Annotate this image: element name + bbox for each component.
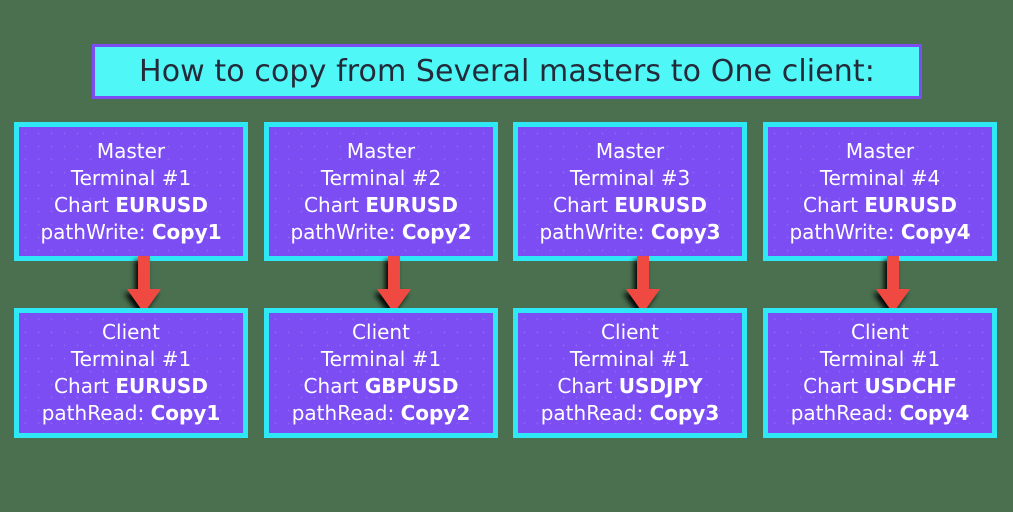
master-path-value-2: Copy2: [402, 220, 472, 244]
master-chart-symbol-3: EURUSD: [614, 193, 707, 217]
down-arrow-icon-2: [364, 256, 424, 316]
client-path-line-3: pathRead: Copy3: [541, 400, 720, 427]
master-chart-label-1: Chart: [54, 193, 109, 217]
master-chart-symbol-1: EURUSD: [115, 193, 208, 217]
client-path-label-2: pathRead:: [292, 401, 394, 425]
client-chart-label-3: Chart: [557, 374, 612, 398]
master-terminal-box-1[interactable]: Master Terminal #1 Chart EURUSD pathWrit…: [14, 122, 248, 261]
flow-column-1: Master Terminal #1 Chart EURUSD pathWrit…: [14, 0, 250, 512]
flow-column-3: Master Terminal #3 Chart EURUSD pathWrit…: [513, 0, 749, 512]
master-chart-label-3: Chart: [553, 193, 608, 217]
master-path-label-2: pathWrite:: [290, 220, 395, 244]
client-terminal-box-1[interactable]: Client Terminal #1 Chart EURUSD pathRead…: [14, 308, 248, 438]
flow-column-4: Master Terminal #4 Chart EURUSD pathWrit…: [763, 0, 999, 512]
client-terminal-box-4[interactable]: Client Terminal #1 Chart USDCHF pathRead…: [763, 308, 997, 438]
down-arrow-icon-3: [613, 256, 673, 316]
master-chart-label-4: Chart: [803, 193, 858, 217]
client-terminal-label-1: Terminal #1: [71, 346, 191, 373]
flow-column-2: Master Terminal #2 Chart EURUSD pathWrit…: [264, 0, 500, 512]
master-terminal-box-2[interactable]: Master Terminal #2 Chart EURUSD pathWrit…: [264, 122, 498, 261]
master-role-label-3: Master: [596, 138, 664, 165]
client-chart-label-1: Chart: [54, 374, 109, 398]
master-role-label-2: Master: [347, 138, 415, 165]
master-path-line-1: pathWrite: Copy1: [40, 219, 221, 246]
master-role-label-1: Master: [97, 138, 165, 165]
client-role-label-4: Client: [851, 319, 909, 346]
client-path-label-1: pathRead:: [42, 401, 144, 425]
master-chart-line-3: Chart EURUSD: [553, 192, 707, 219]
master-terminal-box-3[interactable]: Master Terminal #3 Chart EURUSD pathWrit…: [513, 122, 747, 261]
master-path-line-3: pathWrite: Copy3: [539, 219, 720, 246]
down-arrow-icon-1: [114, 256, 174, 316]
client-path-value-2: Copy2: [401, 401, 471, 425]
client-terminal-label-4: Terminal #1: [820, 346, 940, 373]
master-terminal-label-1: Terminal #1: [71, 165, 191, 192]
master-path-value-3: Copy3: [651, 220, 721, 244]
master-chart-line-2: Chart EURUSD: [304, 192, 458, 219]
master-terminal-box-4[interactable]: Master Terminal #4 Chart EURUSD pathWrit…: [763, 122, 997, 261]
client-path-line-2: pathRead: Copy2: [292, 400, 471, 427]
master-terminal-label-4: Terminal #4: [820, 165, 940, 192]
client-chart-line-4: Chart USDCHF: [803, 373, 957, 400]
client-terminal-box-3[interactable]: Client Terminal #1 Chart USDJPY pathRead…: [513, 308, 747, 438]
client-role-label-3: Client: [601, 319, 659, 346]
master-path-label-4: pathWrite:: [789, 220, 894, 244]
master-terminal-label-3: Terminal #3: [570, 165, 690, 192]
master-path-label-1: pathWrite:: [40, 220, 145, 244]
client-path-value-4: Copy4: [900, 401, 970, 425]
master-chart-line-4: Chart EURUSD: [803, 192, 957, 219]
master-chart-symbol-4: EURUSD: [864, 193, 957, 217]
client-role-label-2: Client: [352, 319, 410, 346]
client-chart-label-4: Chart: [803, 374, 858, 398]
client-terminal-box-2[interactable]: Client Terminal #1 Chart GBPUSD pathRead…: [264, 308, 498, 438]
client-path-line-4: pathRead: Copy4: [791, 400, 970, 427]
master-path-line-2: pathWrite: Copy2: [290, 219, 471, 246]
master-chart-line-1: Chart EURUSD: [54, 192, 208, 219]
client-chart-symbol-1: EURUSD: [115, 374, 208, 398]
client-chart-line-2: Chart GBPUSD: [304, 373, 459, 400]
client-path-value-3: Copy3: [650, 401, 720, 425]
master-path-label-3: pathWrite:: [539, 220, 644, 244]
client-path-line-1: pathRead: Copy1: [42, 400, 221, 427]
client-path-label-4: pathRead:: [791, 401, 893, 425]
master-role-label-4: Master: [846, 138, 914, 165]
client-role-label-1: Client: [102, 319, 160, 346]
client-chart-symbol-2: GBPUSD: [365, 374, 459, 398]
client-path-label-3: pathRead:: [541, 401, 643, 425]
client-chart-label-2: Chart: [304, 374, 359, 398]
master-path-line-4: pathWrite: Copy4: [789, 219, 970, 246]
client-chart-symbol-3: USDJPY: [619, 374, 703, 398]
diagram-canvas: How to copy from Several masters to One …: [0, 0, 1013, 512]
master-path-value-1: Copy1: [152, 220, 222, 244]
master-path-value-4: Copy4: [901, 220, 971, 244]
client-chart-line-1: Chart EURUSD: [54, 373, 208, 400]
client-terminal-label-3: Terminal #1: [570, 346, 690, 373]
down-arrow-icon-4: [863, 256, 923, 316]
master-chart-label-2: Chart: [304, 193, 359, 217]
master-chart-symbol-2: EURUSD: [365, 193, 458, 217]
client-terminal-label-2: Terminal #1: [321, 346, 441, 373]
client-chart-symbol-4: USDCHF: [865, 374, 957, 398]
client-path-value-1: Copy1: [151, 401, 221, 425]
client-chart-line-3: Chart USDJPY: [557, 373, 702, 400]
master-terminal-label-2: Terminal #2: [321, 165, 441, 192]
